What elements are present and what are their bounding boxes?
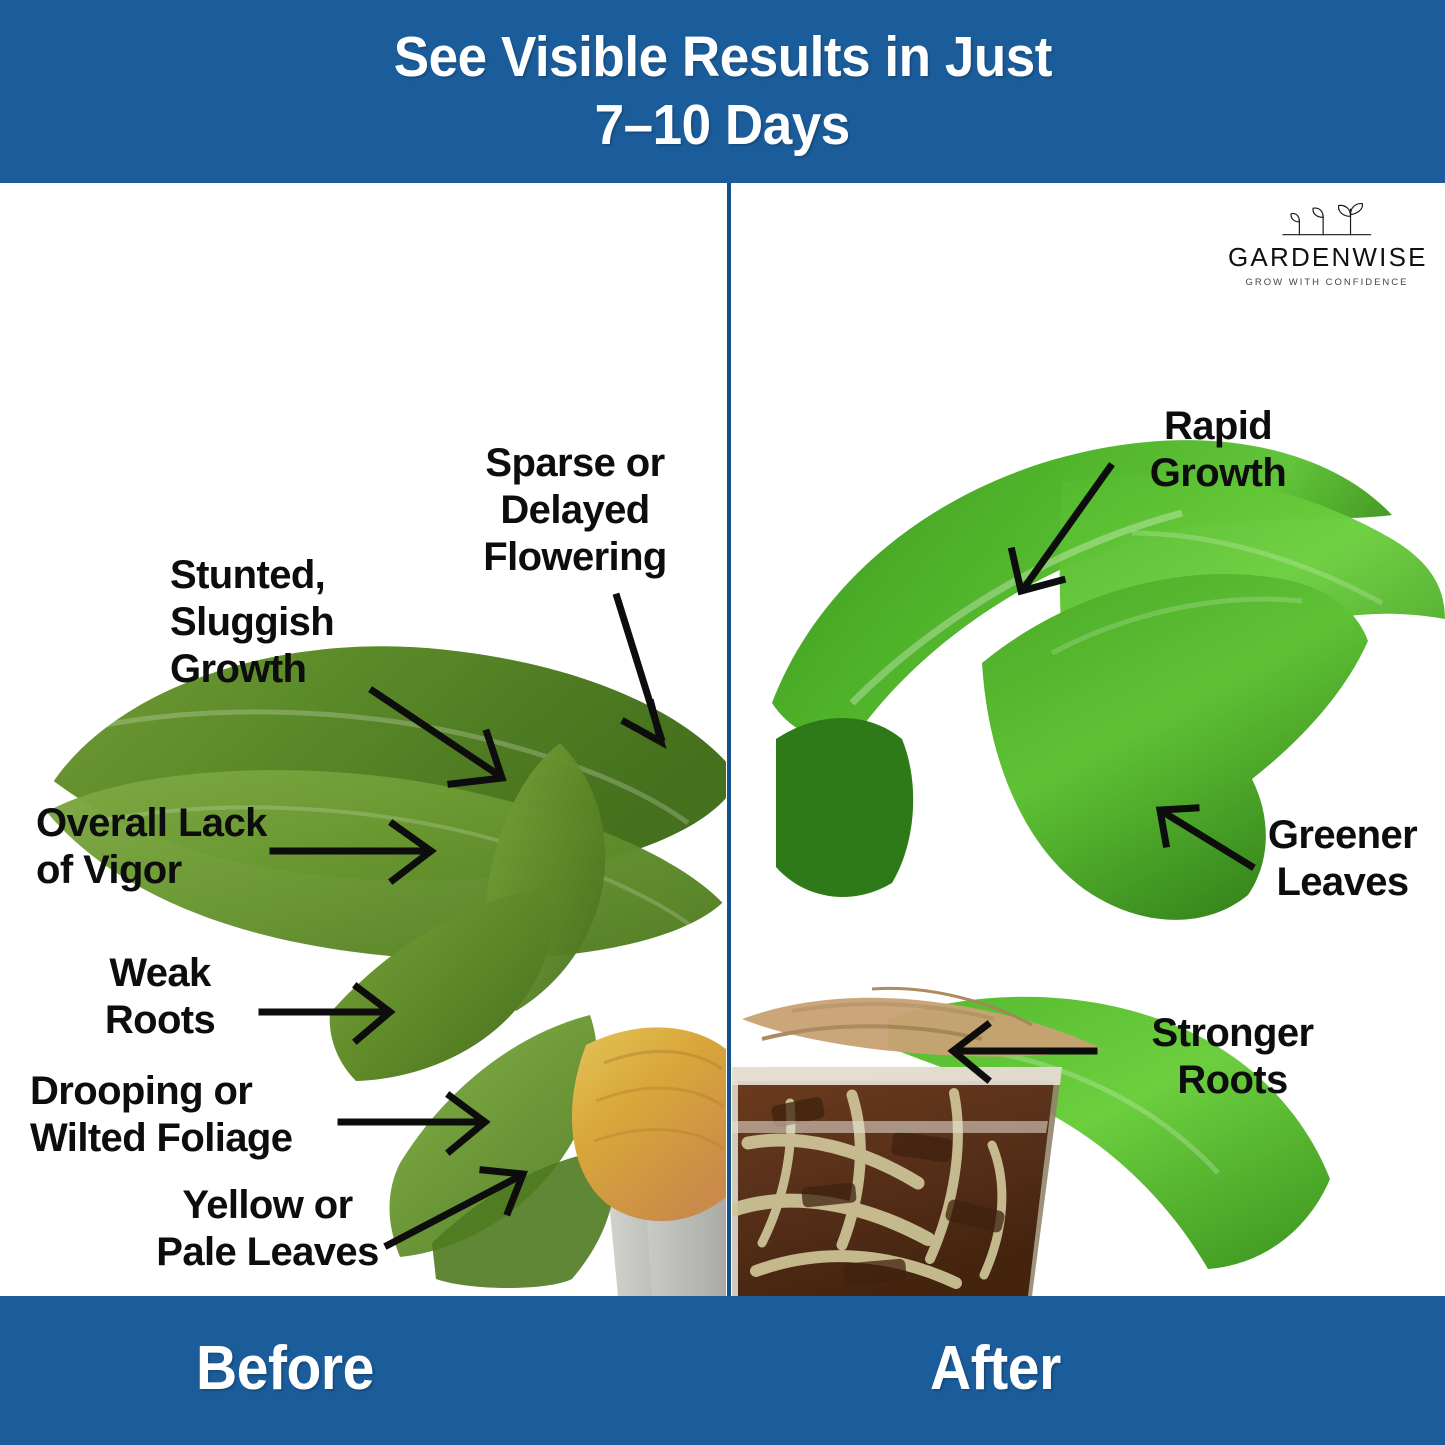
annotation-stunted-growth: Stunted, Sluggish Growth — [170, 552, 380, 692]
annotation-yellow-leaves: Yellow or Pale Leaves — [140, 1182, 395, 1276]
logo-tagline: GROW WITH CONFIDENCE — [1228, 278, 1426, 288]
annotation-greener-leaves: Greener Leaves — [1250, 812, 1435, 906]
after-panel — [732, 183, 1445, 1296]
header-title-line1: See Visible Results in Just — [393, 24, 1051, 91]
header-title-line2: 7–10 Days — [595, 92, 850, 159]
footer-label-before: Before — [196, 1333, 374, 1404]
annotation-rapid-growth: Rapid Growth — [1118, 403, 1318, 497]
after-plant-illustration — [732, 183, 1445, 1296]
annotation-lack-of-vigor: Overall Lack of Vigor — [36, 800, 296, 894]
panel-divider-core — [727, 183, 731, 1296]
footer-label-after: After — [930, 1333, 1061, 1404]
annotation-sparse-flowering: Sparse or Delayed Flowering — [452, 440, 698, 580]
brand-logo: GARDENWISE GROW WITH CONFIDENCE — [1228, 200, 1426, 288]
logo-wordmark: GARDENWISE — [1228, 244, 1426, 270]
infographic-canvas: See Visible Results in Just 7–10 Days — [0, 0, 1445, 1445]
three-sprouts-icon — [1272, 200, 1382, 242]
header-banner: See Visible Results in Just 7–10 Days — [0, 0, 1445, 183]
annotation-stronger-roots: Stronger Roots — [1135, 1010, 1330, 1104]
annotation-drooping-foliage: Drooping or Wilted Foliage — [30, 1068, 350, 1162]
annotation-weak-roots: Weak Roots — [60, 950, 260, 1044]
